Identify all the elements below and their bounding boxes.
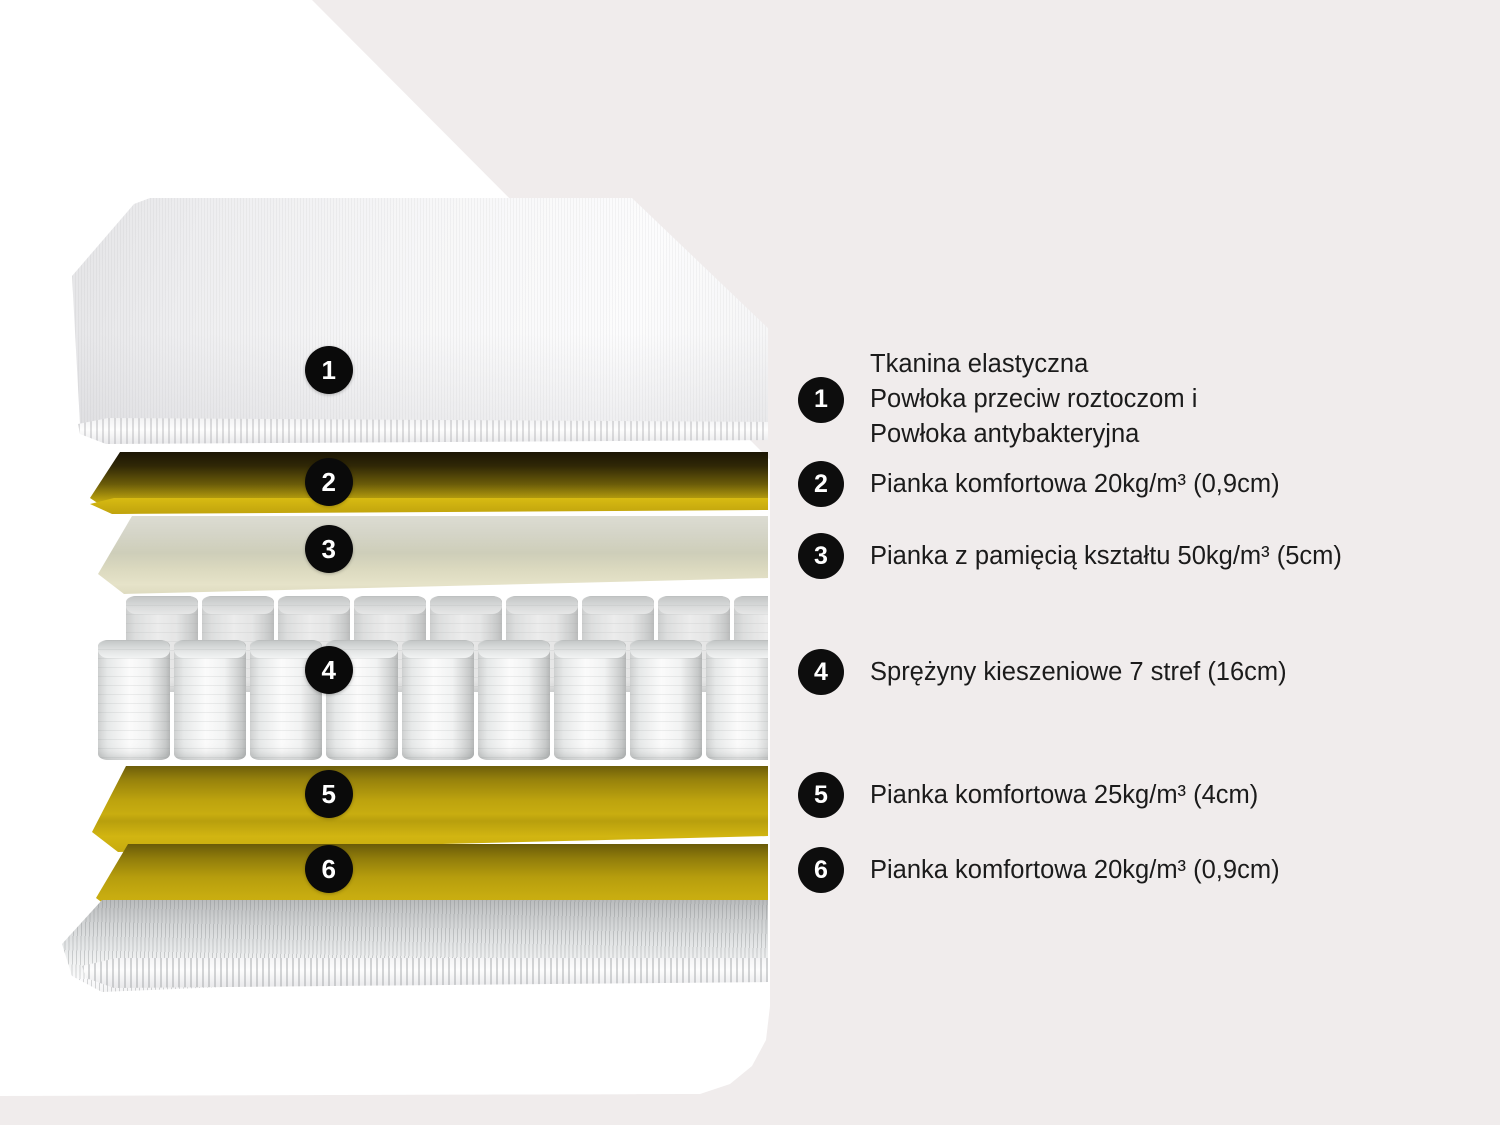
layer-badge-5: 5 bbox=[305, 770, 353, 818]
spring-coil bbox=[706, 640, 768, 760]
legend-badge-2: 2 bbox=[798, 461, 844, 507]
layer-badge-4: 4 bbox=[305, 646, 353, 694]
legend-badge-number: 5 bbox=[814, 783, 828, 808]
spring-coil bbox=[554, 640, 626, 760]
foam-body bbox=[92, 766, 768, 852]
cover-piped-edge bbox=[78, 418, 768, 444]
legend-item-5[interactable]: 5 Pianka komfortowa 25kg/m³ (4cm) bbox=[798, 772, 1258, 818]
foam-front-edge bbox=[90, 498, 768, 514]
foam-body bbox=[98, 516, 768, 594]
spring-coil bbox=[630, 640, 702, 760]
legend-item-1[interactable]: 1 Tkanina elastyczna Powłoka przeciw roz… bbox=[798, 347, 1197, 452]
legend-badge-3: 3 bbox=[798, 533, 844, 579]
legend-badge-1: 1 bbox=[798, 377, 844, 423]
legend-badge-number: 2 bbox=[814, 472, 828, 497]
layer-badge-3: 3 bbox=[305, 525, 353, 573]
mattress-layer-memory-foam bbox=[98, 516, 768, 594]
layer-badge-2: 2 bbox=[305, 458, 353, 506]
legend-item-3[interactable]: 3 Pianka z pamięcią kształtu 50kg/m³ (5c… bbox=[798, 533, 1342, 579]
legend-item-4[interactable]: 4 Sprężyny kieszeniowe 7 stref (16cm) bbox=[798, 649, 1287, 695]
spring-row-front bbox=[96, 640, 768, 760]
legend-label-6: Pianka komfortowa 20kg/m³ (0,9cm) bbox=[870, 853, 1280, 888]
badge-number: 1 bbox=[322, 357, 337, 383]
badge-number: 5 bbox=[322, 781, 337, 807]
legend-badge-4: 4 bbox=[798, 649, 844, 695]
badge-number: 6 bbox=[322, 856, 337, 882]
layer-badge-6: 6 bbox=[305, 845, 353, 893]
legend-badge-number: 1 bbox=[814, 387, 828, 412]
legend-badge-number: 3 bbox=[814, 544, 828, 569]
legend-label-3: Pianka z pamięcią kształtu 50kg/m³ (5cm) bbox=[870, 539, 1342, 574]
legend-list: 1 Tkanina elastyczna Powłoka przeciw roz… bbox=[798, 0, 1498, 1125]
legend-badge-5: 5 bbox=[798, 772, 844, 818]
badge-number: 4 bbox=[322, 657, 337, 683]
mattress-cross-section-image: 1 2 3 4 5 6 bbox=[0, 0, 768, 1010]
badge-number: 2 bbox=[322, 469, 337, 495]
legend-label-5: Pianka komfortowa 25kg/m³ (4cm) bbox=[870, 778, 1258, 813]
legend-label-4: Sprężyny kieszeniowe 7 stref (16cm) bbox=[870, 655, 1287, 690]
legend-item-6[interactable]: 6 Pianka komfortowa 20kg/m³ (0,9cm) bbox=[798, 847, 1280, 893]
spring-coil bbox=[174, 640, 246, 760]
base-piped-edge bbox=[82, 958, 768, 988]
mattress-base-fabric bbox=[62, 900, 768, 992]
legend-label-2: Pianka komfortowa 20kg/m³ (0,9cm) bbox=[870, 467, 1280, 502]
badge-number: 3 bbox=[322, 536, 337, 562]
spring-coil bbox=[98, 640, 170, 760]
mattress-layer-cover bbox=[72, 196, 768, 446]
legend-label-1: Tkanina elastyczna Powłoka przeciw rozto… bbox=[870, 347, 1197, 452]
legend-badge-number: 4 bbox=[814, 660, 828, 685]
legend-badge-number: 6 bbox=[814, 858, 828, 883]
mattress-layer-pocket-springs bbox=[96, 594, 768, 770]
legend-item-2[interactable]: 2 Pianka komfortowa 20kg/m³ (0,9cm) bbox=[798, 461, 1280, 507]
spring-coil bbox=[402, 640, 474, 760]
layer-badge-1: 1 bbox=[305, 346, 353, 394]
mattress-layer-comfort-foam-upper bbox=[90, 452, 768, 514]
cover-shading bbox=[72, 196, 768, 446]
legend-badge-6: 6 bbox=[798, 847, 844, 893]
spring-coil bbox=[478, 640, 550, 760]
mattress-layer-comfort-foam-lower bbox=[92, 766, 768, 852]
infographic-stage: 1 2 3 4 5 6 1 Tkanina elastyczna Powłoka… bbox=[0, 0, 1500, 1125]
